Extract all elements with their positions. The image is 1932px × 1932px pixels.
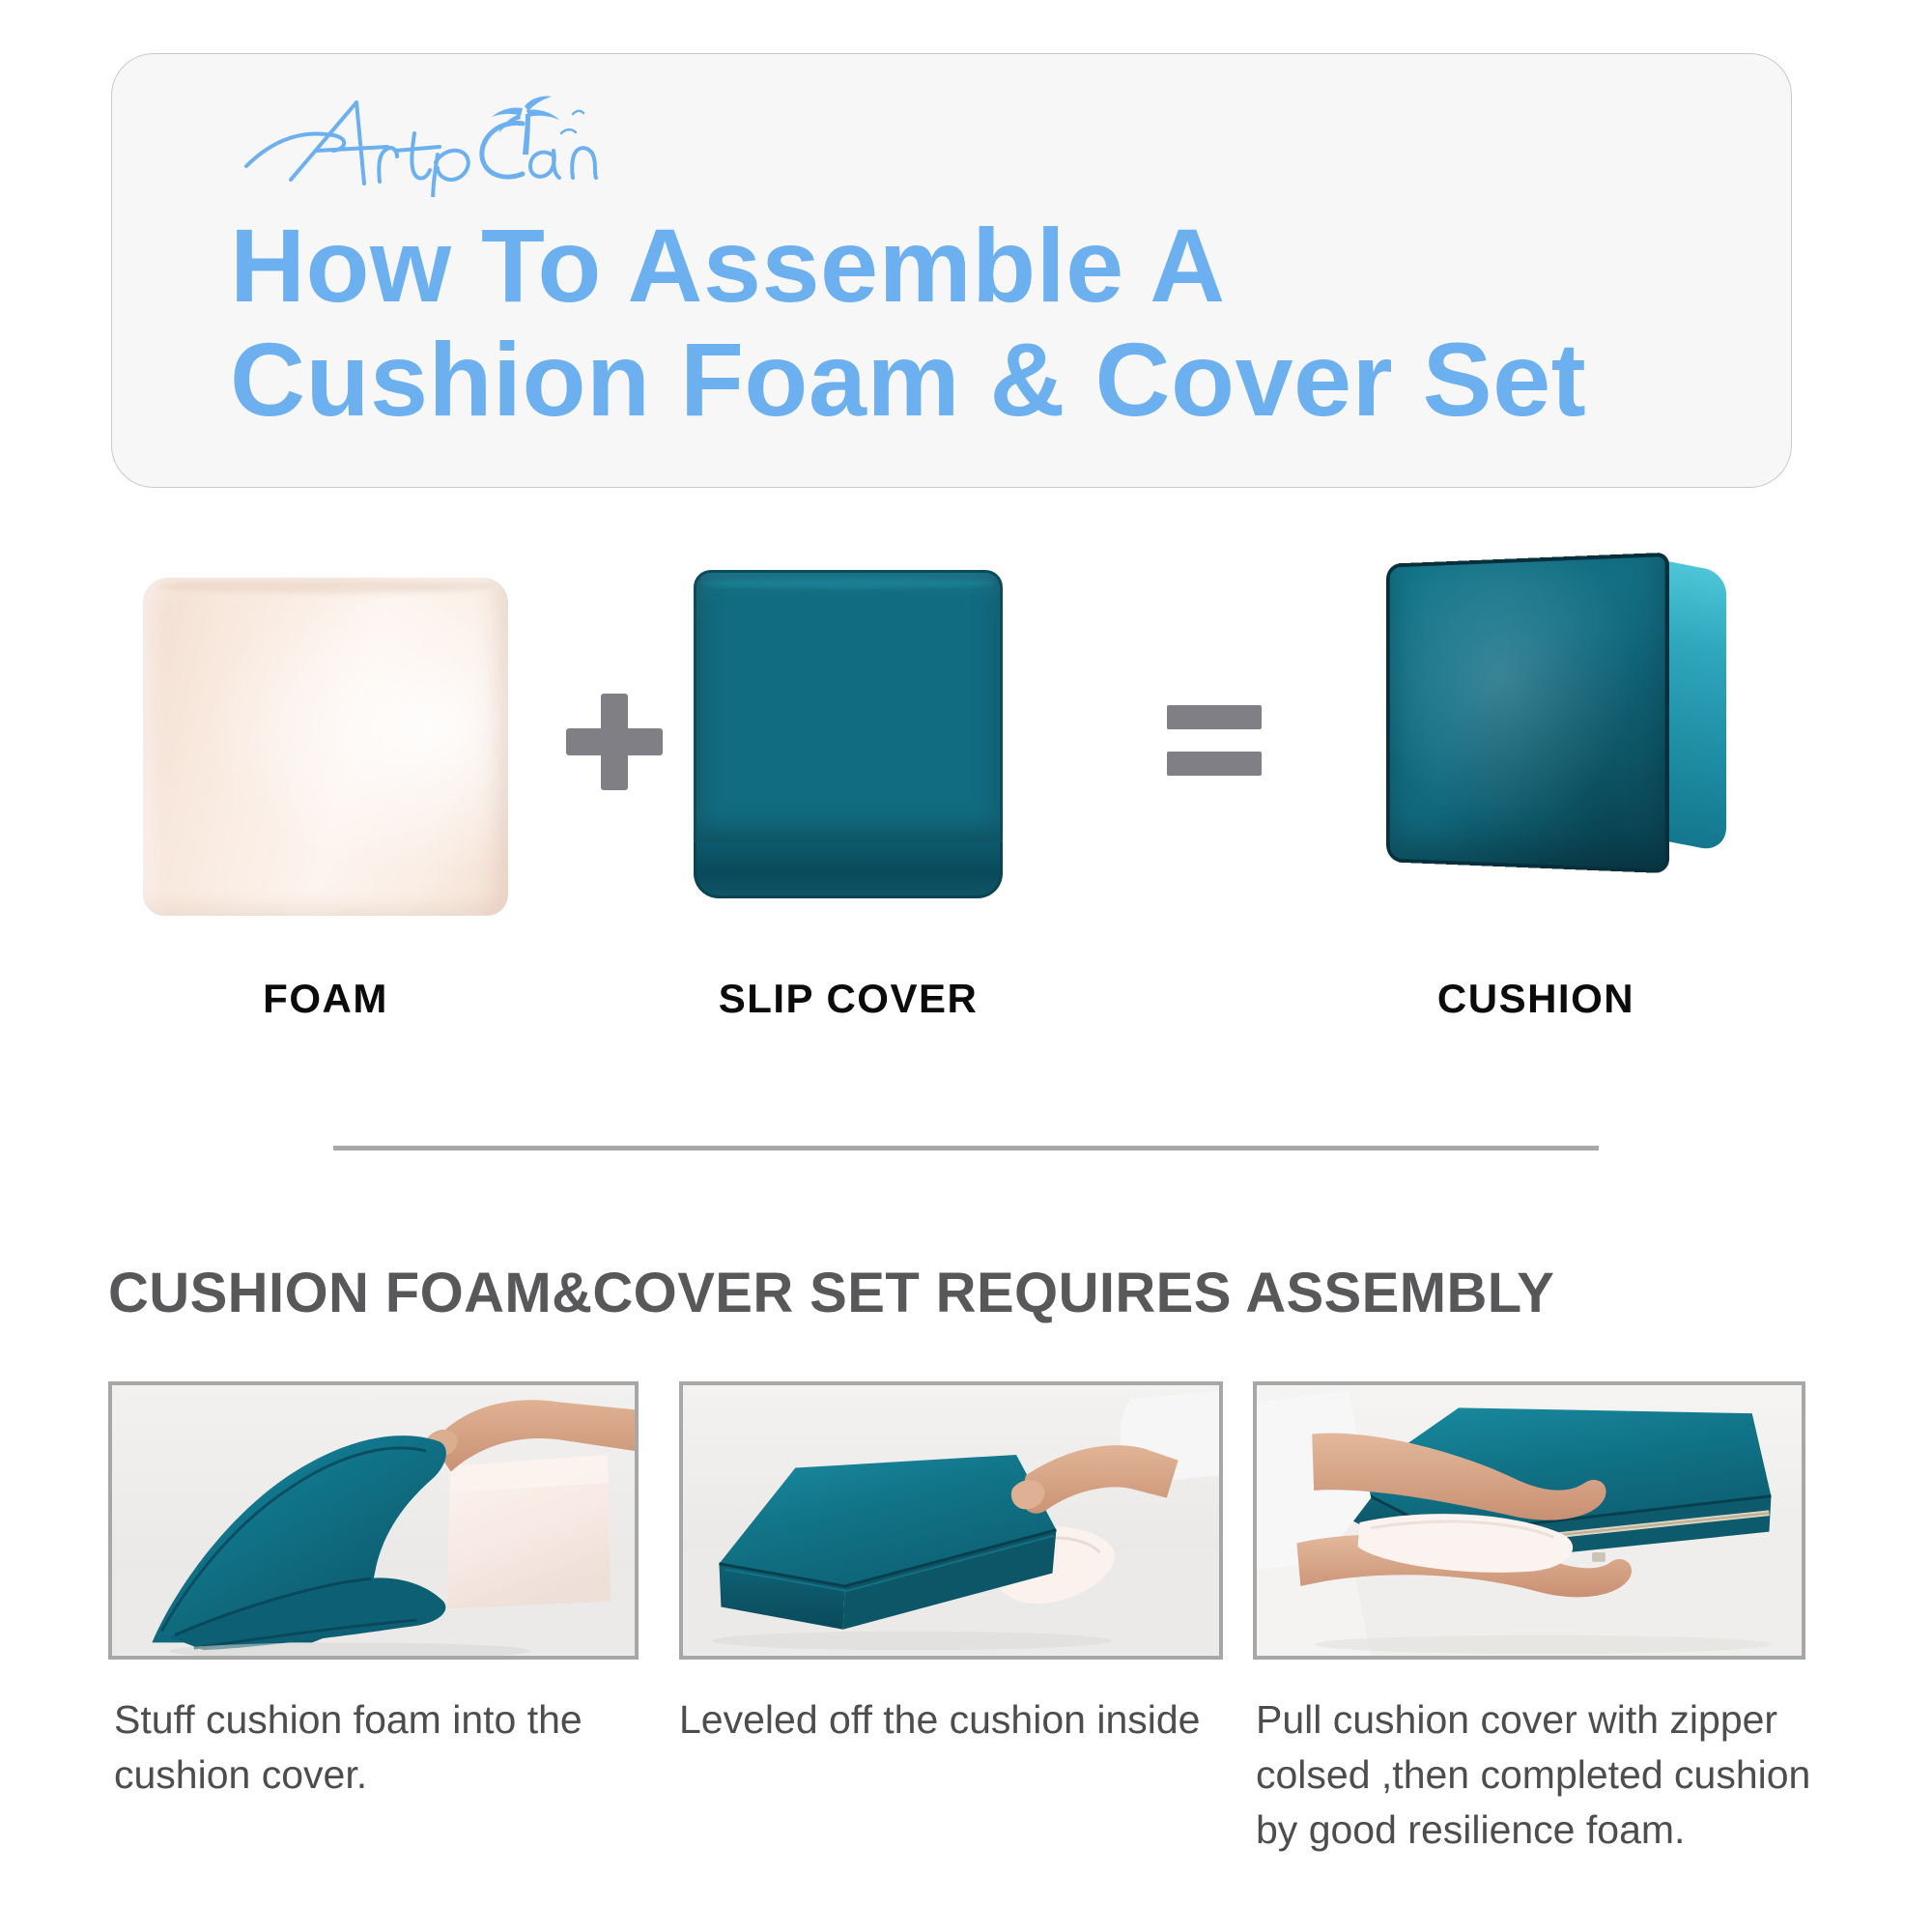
- step-1-photo: [108, 1381, 639, 1660]
- step-3-caption: Pull cushion cover with zipper colsed ,t…: [1256, 1692, 1835, 1858]
- assembly-photo-row: [0, 1381, 1932, 1671]
- step-1-illustration: [112, 1385, 635, 1656]
- slip-cover-gusset: [694, 842, 1003, 898]
- slip-cover-image: [694, 570, 1003, 850]
- step-3-illustration: [1257, 1385, 1802, 1656]
- step-1-caption: Stuff cushion foam into the cushion cove…: [114, 1692, 655, 1803]
- foam-block-image: [143, 578, 508, 916]
- cushion-image: [1364, 551, 1750, 937]
- slip-cover-top-seam: [702, 579, 993, 588]
- artpcan-logo-icon: [233, 91, 648, 197]
- step-3-photo: [1253, 1381, 1805, 1660]
- label-slip-cover: SLIP COVER: [645, 976, 1051, 1022]
- header-card: How To Assemble A Cushion Foam & Cover S…: [111, 53, 1792, 488]
- equals-operator-icon: [1167, 705, 1262, 779]
- step-2-photo: [679, 1381, 1223, 1660]
- page-title-line-2: Cushion Foam & Cover Set: [230, 323, 1737, 437]
- step-2-caption: Leveled off the cushion inside: [679, 1692, 1239, 1747]
- page-title-line-1: How To Assemble A: [230, 209, 1737, 323]
- cushion-front-face: [1386, 553, 1669, 873]
- section-divider: [333, 1146, 1599, 1151]
- label-foam: FOAM: [143, 976, 508, 1022]
- plus-operator-icon: [566, 694, 663, 790]
- page-title: How To Assemble A Cushion Foam & Cover S…: [230, 209, 1737, 437]
- step-2-illustration: [683, 1385, 1219, 1656]
- assembly-equation: [0, 541, 1932, 947]
- label-cushion: CUSHION: [1333, 976, 1739, 1022]
- equation-labels: FOAM SLIP COVER CUSHION: [0, 976, 1932, 1034]
- assembly-heading: CUSHION FOAM&COVER SET REQUIRES ASSEMBLY: [108, 1261, 1554, 1325]
- brand-logo: [233, 91, 648, 197]
